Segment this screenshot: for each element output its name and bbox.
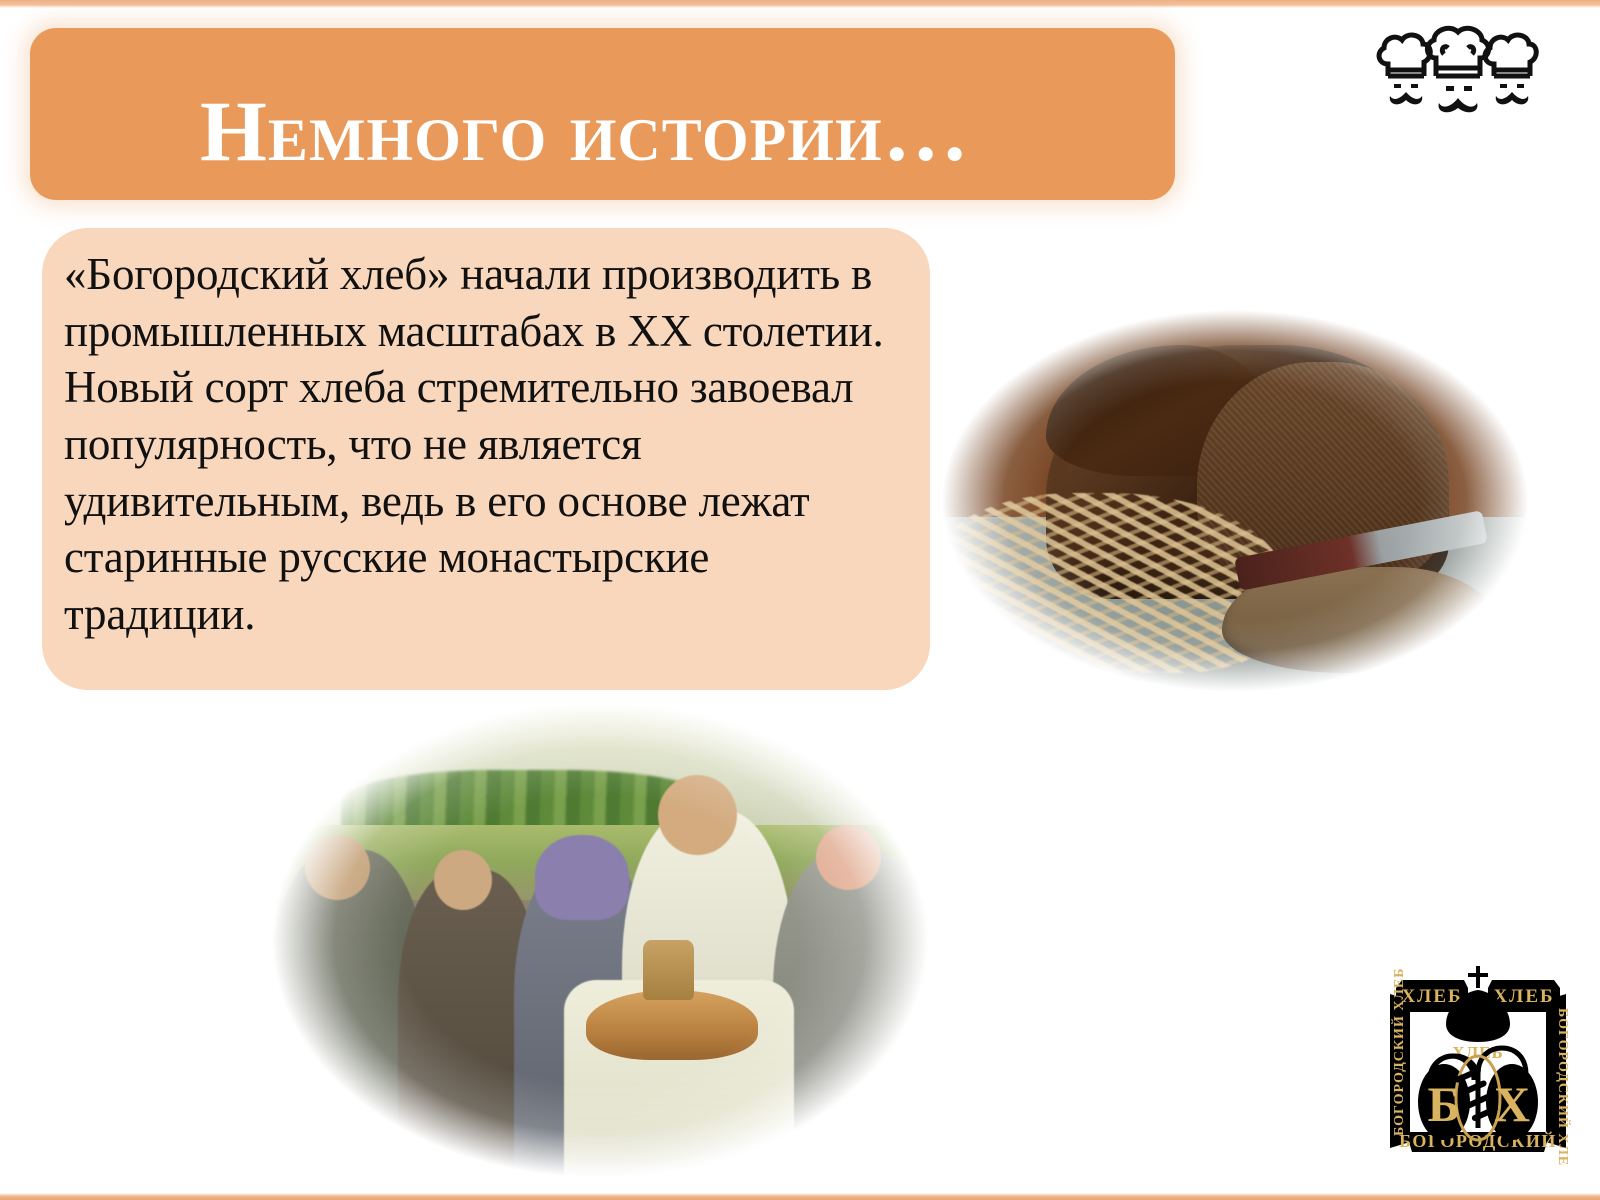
title-banner: Немного истории… (30, 28, 1175, 200)
top-edge-strip (0, 0, 1600, 8)
logo-top-right-word: ХЛЕБ (1493, 986, 1554, 1007)
body-paragraph: «Богородский хлеб» начали производить в … (64, 246, 910, 643)
bogorodsky-hleb-logo: ХЛЕБ ХЛЕБ БОГОРОДСКИЙ БОГОРОДСКИЙ ХЛЕБ Б… (1372, 946, 1584, 1166)
logo-right-side-word: БОГОРОДСКИЙ ХЛЕБ (1555, 1008, 1572, 1166)
chef-hats-icon (1374, 24, 1542, 120)
logo-monogram-h: Х (1494, 1076, 1530, 1132)
logo-monogram-b: Б (1427, 1076, 1460, 1132)
painting-head-left (305, 835, 370, 900)
painting-round-loaf (586, 990, 759, 1060)
painting-salt-shaker (643, 940, 693, 1000)
painting-head-elder (658, 775, 737, 855)
painting-head-second (434, 850, 492, 910)
painting-head-right (816, 825, 881, 890)
sliced-rye-bread-photo (920, 296, 1550, 706)
slide-canvas: Немного истории… (0, 0, 1600, 1200)
painting-figure-right (773, 850, 939, 1200)
logo-top-left-word: ХЛЕБ (1401, 986, 1462, 1007)
painting-headscarf (535, 835, 629, 920)
bread-and-salt-painting (240, 700, 960, 1200)
page-title: Немного истории… (200, 88, 970, 174)
body-text-card: «Богородский хлеб» начали производить в … (42, 228, 930, 690)
logo-left-side-word: БОГОРОДСКИЙ ХЛЕБ (1390, 968, 1407, 1136)
